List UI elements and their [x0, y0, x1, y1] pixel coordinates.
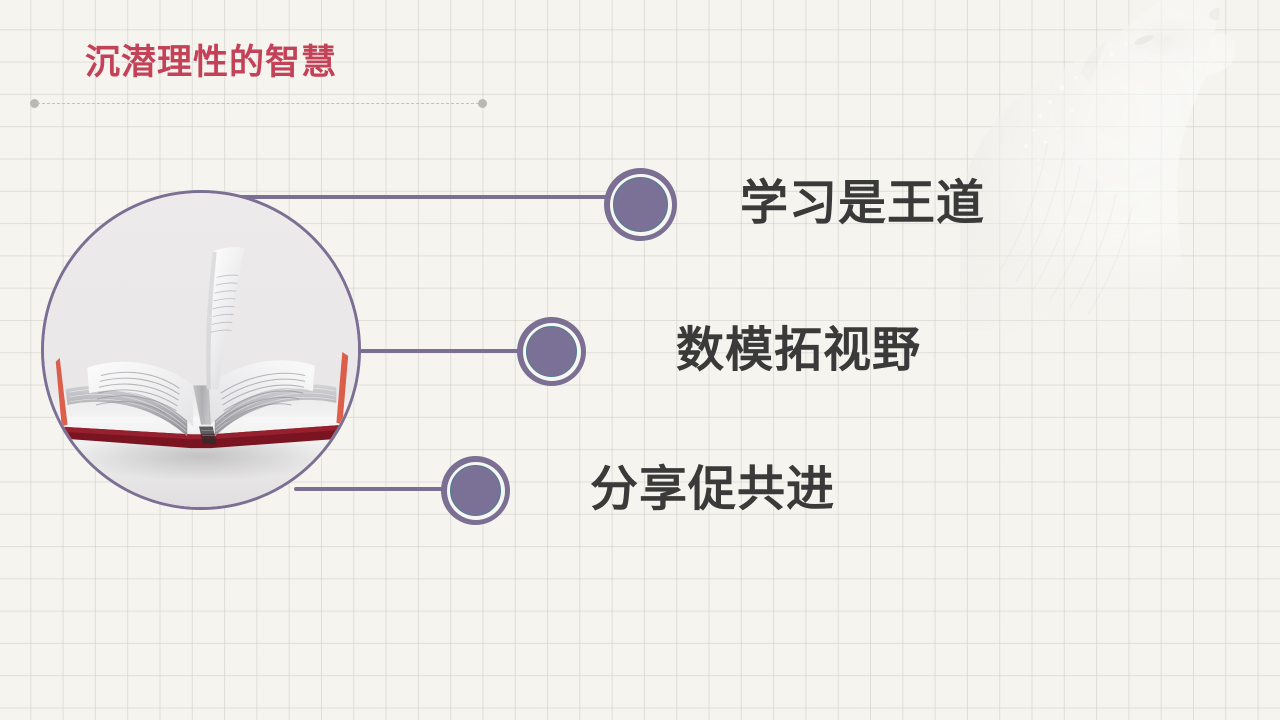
slide-canvas: 沉潜理性的智慧	[0, 0, 1280, 720]
divider-dot-right	[478, 99, 487, 108]
bullet-ring-gap-3	[447, 462, 505, 520]
bullet-ring-gap-2	[523, 323, 581, 381]
bullet-core-1	[613, 177, 668, 232]
bullet-node-2[interactable]	[517, 317, 586, 386]
bullet-core-3	[450, 465, 501, 516]
bullet-node-1[interactable]	[604, 168, 677, 241]
bullet-label-3: 分享促共进	[590, 466, 835, 514]
connector-line-2	[360, 349, 522, 353]
bullet-node-3[interactable]	[441, 456, 510, 525]
book-image-circle	[41, 190, 361, 510]
open-book-photo	[44, 193, 358, 507]
title-divider	[30, 103, 485, 105]
divider-dash-line	[37, 103, 479, 104]
bullet-label-2: 数模拓视野	[676, 327, 921, 375]
page-title: 沉潜理性的智慧	[85, 43, 337, 83]
bullet-label-1: 学习是王道	[740, 180, 985, 228]
bullet-core-2	[526, 326, 577, 377]
bullet-ring-gap-1	[610, 174, 672, 236]
